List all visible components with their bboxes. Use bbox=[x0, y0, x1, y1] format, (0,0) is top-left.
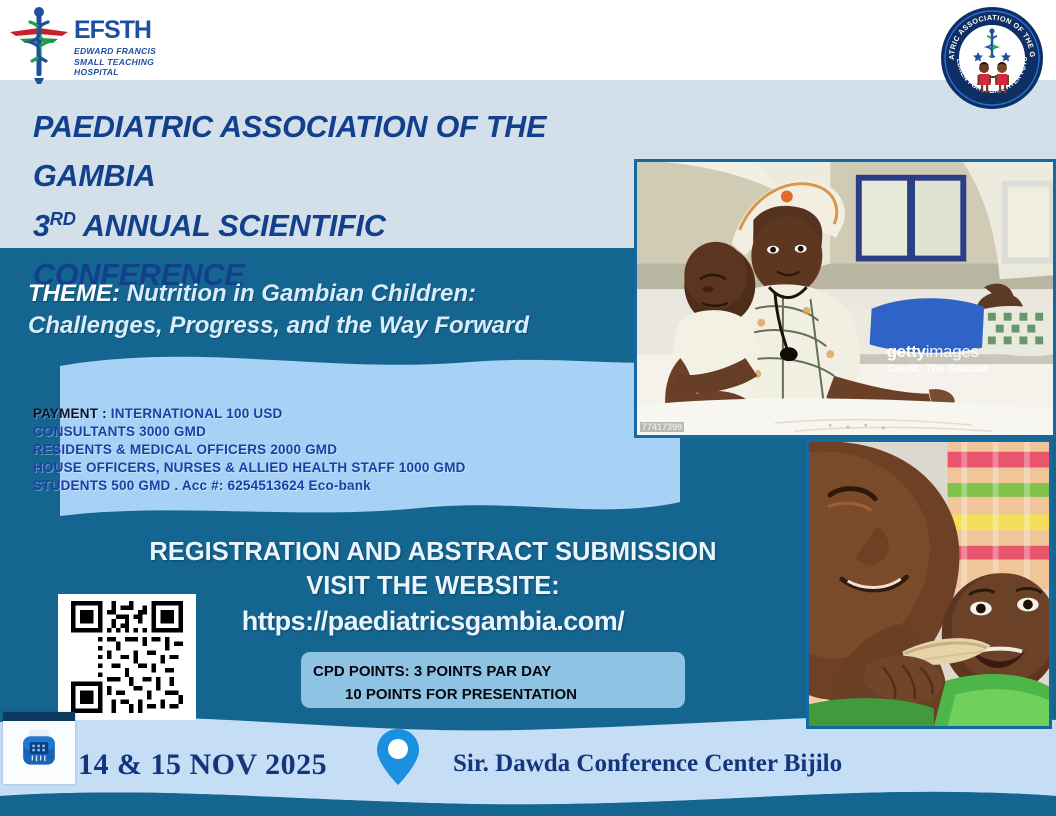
theme-line-2: Challenges, Progress, and the Way Forwar… bbox=[28, 310, 648, 342]
paediatric-association-seal-icon: PAEDIATRIC ASSOCIATION OF THE GAMBIA CHI… bbox=[940, 6, 1044, 110]
conference-dates: 14 & 15 NOV 2025 bbox=[78, 748, 327, 782]
title-line-2-rest: ANNUAL SCIENTIFIC bbox=[76, 209, 386, 243]
cpd-line-1: CPD POINTS: 3 POINTS PAR DAY bbox=[313, 660, 685, 683]
conference-poster: EFSTH EDWARD FRANCIS SMALL TEACHING HOSP… bbox=[0, 0, 1056, 816]
ward-photo-illustration bbox=[637, 162, 1053, 435]
efsth-fullname-line3: HOSPITAL bbox=[74, 67, 156, 78]
app-glyph-icon bbox=[19, 728, 59, 768]
title-line-1: PAEDIATRIC ASSOCIATION OF THE GAMBIA bbox=[33, 103, 653, 202]
caduceus-wings-icon bbox=[8, 6, 70, 86]
app-icon-title-bar bbox=[3, 712, 75, 721]
registration-qr-code[interactable] bbox=[58, 594, 196, 720]
theme-title: Nutrition in Gambian Children: bbox=[120, 280, 476, 307]
cpd-points-box: CPD POINTS: 3 POINTS PAR DAY 10 POINTS F… bbox=[301, 652, 685, 708]
cpd-line-2: 10 POINTS FOR PRESENTATION bbox=[313, 683, 685, 706]
payment-international: INTERNATIONAL 100 USD bbox=[107, 406, 283, 421]
title-edition-number: 3 bbox=[33, 209, 50, 243]
location-pin-icon bbox=[376, 728, 420, 786]
payment-row: STUDENTS 500 GMD . Acc #: 6254513624 Eco… bbox=[33, 477, 633, 495]
conference-theme: THEME: Nutrition in Gambian Children: Ch… bbox=[28, 278, 648, 343]
getty-asset-id: 77417399 bbox=[640, 422, 684, 432]
payment-details: PAYMENT : INTERNATIONAL 100 USD CONSULTA… bbox=[33, 405, 633, 495]
efsth-fullname: EDWARD FRANCIS SMALL TEACHING HOSPITAL bbox=[74, 46, 156, 78]
page-title: PAEDIATRIC ASSOCIATION OF THE GAMBIA 3RD… bbox=[33, 103, 653, 301]
efsth-fullname-line2: SMALL TEACHING bbox=[74, 57, 156, 68]
payment-row: HOUSE OFFICERS, NURSES & ALLIED HEALTH S… bbox=[33, 459, 633, 477]
efsth-acronym: EFSTH bbox=[74, 18, 156, 43]
qr-code-icon bbox=[65, 601, 189, 713]
title-line-2: 3RD ANNUAL SCIENTIFIC bbox=[33, 202, 653, 251]
payment-label: PAYMENT : bbox=[33, 406, 107, 421]
payment-row: PAYMENT : INTERNATIONAL 100 USD bbox=[33, 405, 633, 423]
mobile-app-icon[interactable] bbox=[3, 712, 75, 784]
registration-headline: REGISTRATION AND ABSTRACT SUBMISSION bbox=[0, 536, 866, 570]
conference-venue: Sir. Dawda Conference Center Bijilo bbox=[453, 750, 842, 778]
title-edition-ordinal: RD bbox=[50, 208, 76, 229]
efsth-fullname-line1: EDWARD FRANCIS bbox=[74, 46, 156, 57]
payment-row: RESIDENTS & MEDICAL OFFICERS 2000 GMD bbox=[33, 441, 633, 459]
theme-label: THEME: bbox=[28, 280, 120, 307]
theme-line-1: THEME: Nutrition in Gambian Children: bbox=[28, 278, 648, 310]
photo-mother-and-child-hospital-ward: gettyimages Credit: Tim Graham 77417399 bbox=[634, 159, 1056, 438]
payment-row: CONSULTANTS 3000 GMD bbox=[33, 423, 633, 441]
efsth-logo: EFSTH EDWARD FRANCIS SMALL TEACHING HOSP… bbox=[8, 4, 218, 88]
